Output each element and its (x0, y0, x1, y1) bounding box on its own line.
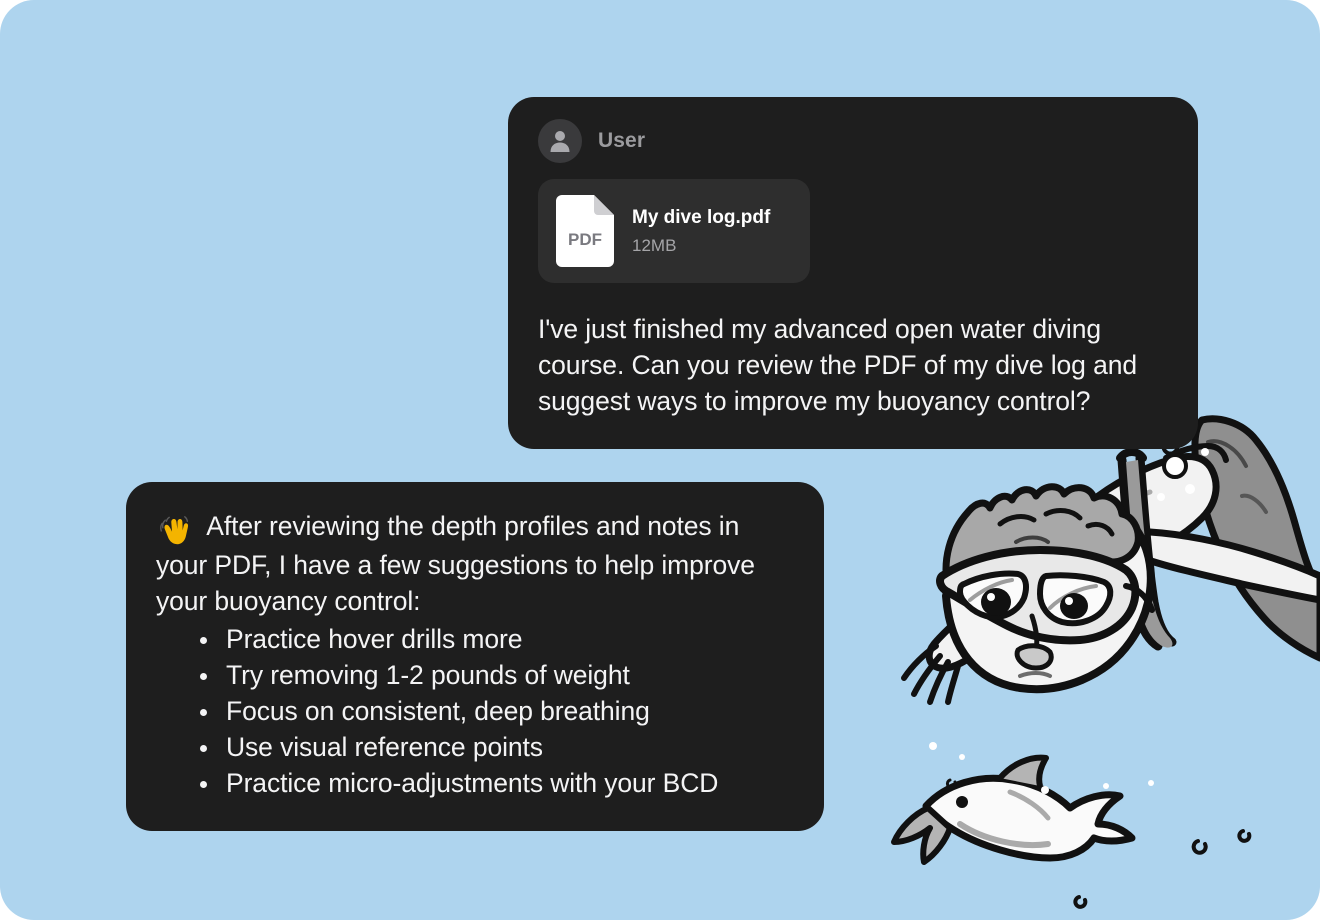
list-item: Focus on consistent, deep breathing (156, 693, 790, 729)
waving-hand-emoji (156, 512, 198, 545)
attachment-file-name: My dive log.pdf (632, 207, 770, 229)
snorkeler-diver-illustration (850, 400, 1320, 920)
pdf-file-icon: PDF (556, 195, 614, 267)
assistant-intro-text: After reviewing the depth profiles and n… (156, 508, 790, 619)
list-item: Use visual reference points (156, 729, 790, 765)
assistant-message-bubble: After reviewing the depth profiles and n… (126, 482, 824, 831)
list-item: Try removing 1-2 pounds of weight (156, 657, 790, 693)
user-header: User (538, 119, 1168, 163)
svg-text:PDF: PDF (568, 230, 602, 249)
list-item: Practice micro-adjustments with your BCD (156, 765, 790, 801)
chat-scene: User PDF My dive log.pdf 12MB I've just … (0, 0, 1320, 920)
attachment-file-size: 12MB (632, 236, 770, 256)
sender-name: User (598, 129, 645, 153)
assistant-intro-copy: After reviewing the depth profiles and n… (156, 511, 755, 616)
suggestions-list: Practice hover drills more Try removing … (156, 621, 790, 801)
user-message-text: I've just finished my advanced open wate… (538, 311, 1168, 419)
attachment-card[interactable]: PDF My dive log.pdf 12MB (538, 179, 810, 283)
list-item: Practice hover drills more (156, 621, 790, 657)
user-message-bubble: User PDF My dive log.pdf 12MB I've just … (508, 97, 1198, 449)
user-avatar-icon (538, 119, 582, 163)
